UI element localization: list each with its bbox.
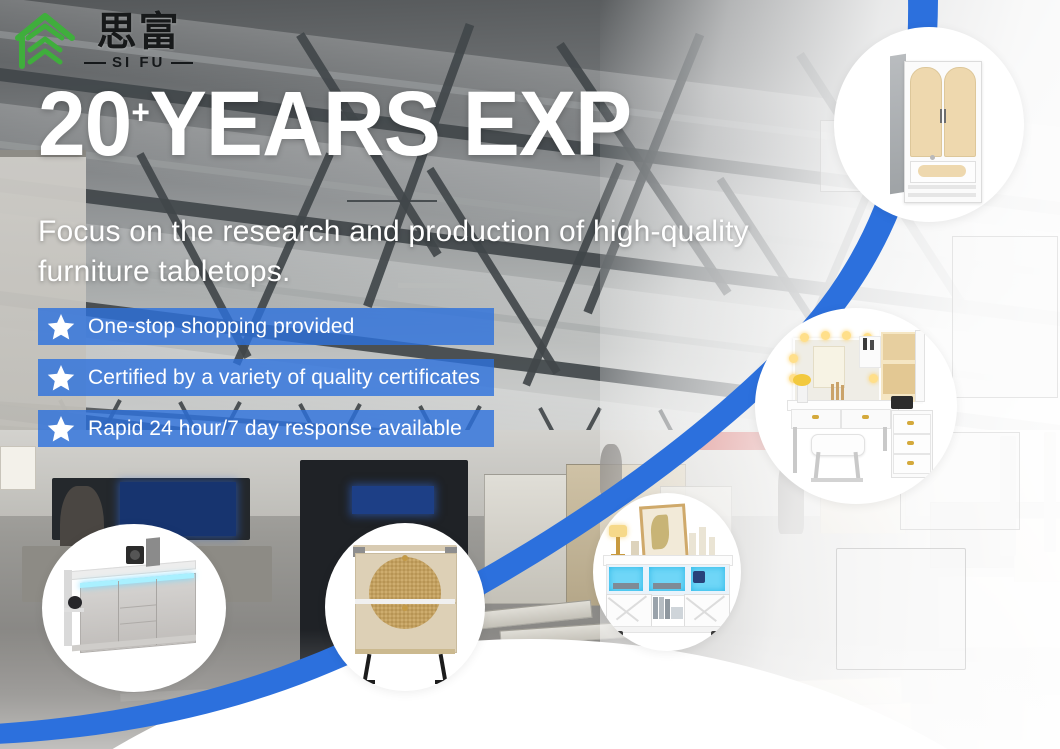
feature-label: One-stop shopping provided <box>88 315 354 339</box>
headline-rest: YEARS EXP <box>150 73 631 175</box>
wordmark-rule-left <box>84 62 106 64</box>
headline-plus: + <box>131 93 149 131</box>
wordmark-rule-right <box>171 62 193 64</box>
star-icon <box>46 363 76 393</box>
ghost-furniture-c <box>952 236 1058 398</box>
product-bubble-sideboard[interactable] <box>42 524 226 692</box>
brand-name-en: SI FU <box>112 55 165 70</box>
product-bubble-tv-stand[interactable] <box>593 493 741 651</box>
wall-notice <box>0 446 36 490</box>
feature-label: Rapid 24 hour/7 day response available <box>88 417 462 441</box>
green-house-chevron-logo-icon <box>14 12 76 70</box>
product-bubble-vanity[interactable] <box>755 308 957 504</box>
product-bubble-rattan-cabinet[interactable] <box>325 523 485 691</box>
feature-item-certified-quality[interactable]: Certified by a variety of quality certif… <box>38 359 494 396</box>
brand-wordmark: 思富 SI FU <box>84 12 193 70</box>
headline-number: 20 <box>38 73 131 175</box>
feature-item-rapid-response[interactable]: Rapid 24 hour/7 day response available <box>38 410 494 447</box>
product-bubble-wardrobe[interactable] <box>834 27 1024 222</box>
promo-banner: 思富 SI FU 20+YEARS EXP Focus on the resea… <box>0 0 1060 749</box>
feature-label: Certified by a variety of quality certif… <box>88 366 480 390</box>
brand-logo[interactable]: 思富 SI FU <box>14 8 284 74</box>
headline: 20+YEARS EXP <box>38 78 631 170</box>
feature-list: One-stop shopping provided Certified by … <box>38 308 494 447</box>
star-icon <box>46 414 76 444</box>
brand-name-en-row: SI FU <box>84 55 193 70</box>
feature-item-one-stop-shopping[interactable]: One-stop shopping provided <box>38 308 494 345</box>
brand-name-cn: 思富 <box>97 12 181 52</box>
star-icon <box>46 312 76 342</box>
subheadline: Focus on the research and production of … <box>38 212 778 292</box>
